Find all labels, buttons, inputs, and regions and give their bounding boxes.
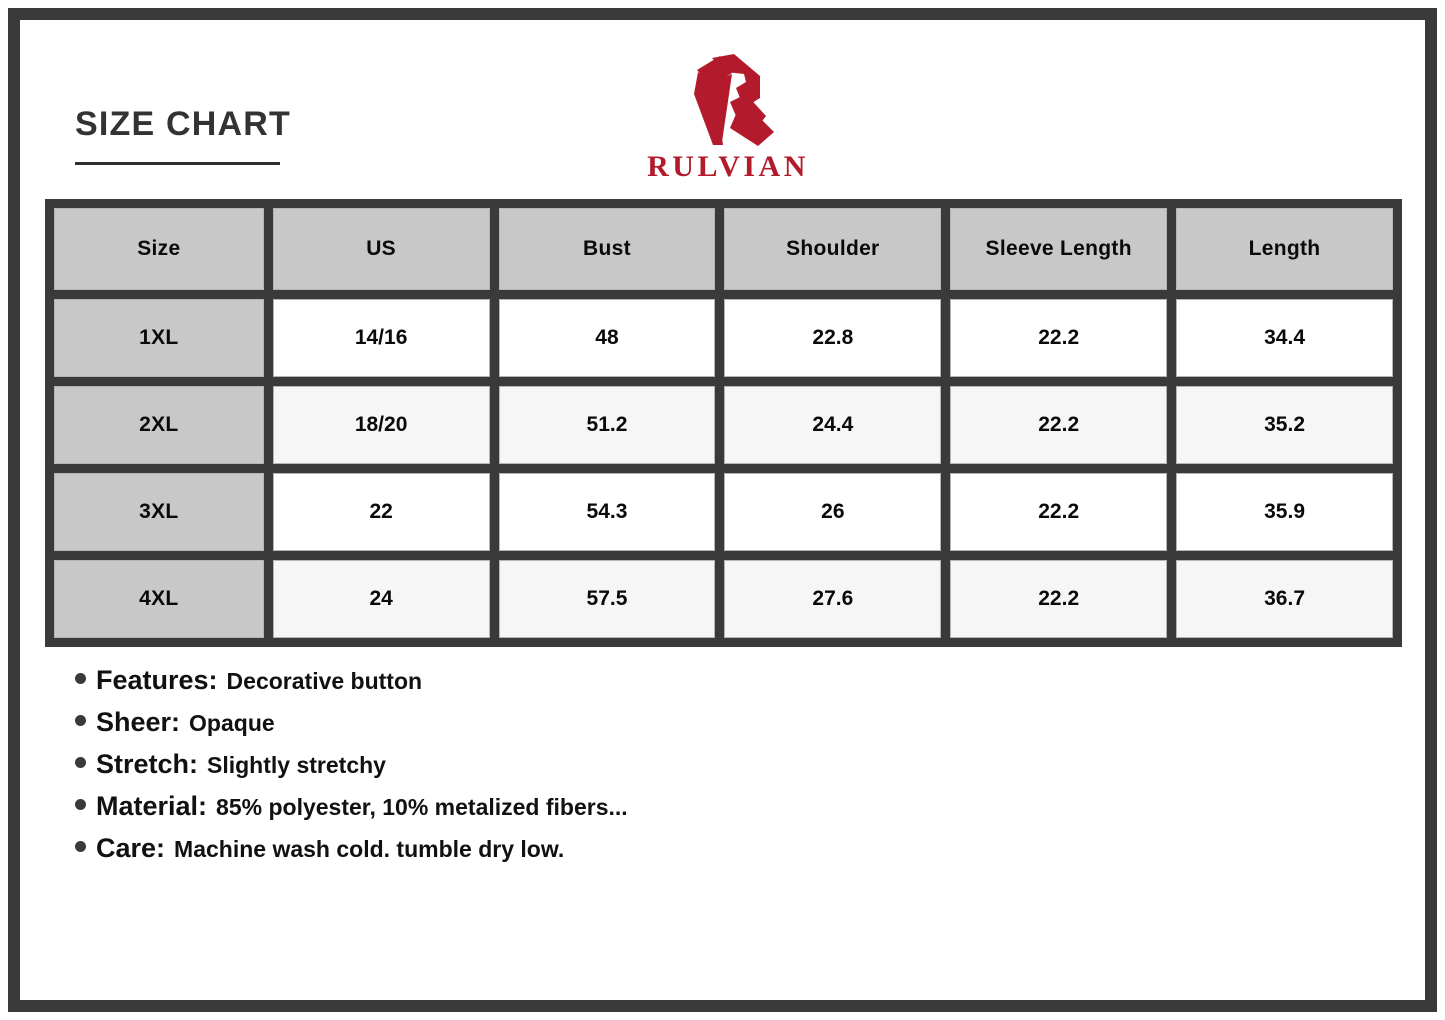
cell-size: 3XL [54, 473, 264, 551]
list-item: Sheer: Opaque [75, 707, 1375, 749]
cell-size: 4XL [54, 560, 264, 638]
cell-shoulder: 26 [724, 473, 941, 551]
spec-value: Machine wash cold. tumble dry low. [174, 836, 564, 863]
cell-bust: 57.5 [499, 560, 716, 638]
brand-logo: RULVIAN [628, 42, 828, 182]
cell-sleeve-length: 22.2 [950, 299, 1167, 377]
cell-size: 1XL [54, 299, 264, 377]
cell-us: 24 [273, 560, 490, 638]
list-item: Features: Decorative button [75, 665, 1375, 707]
column-header-us: US [273, 208, 490, 290]
cell-us: 22 [273, 473, 490, 551]
bullet-dot-icon [75, 757, 86, 768]
spec-value: Slightly stretchy [207, 752, 386, 779]
bullet-dot-icon [75, 799, 86, 810]
title-underline-divider [75, 162, 280, 165]
cell-us: 18/20 [273, 386, 490, 464]
table-row: 4XL 24 57.5 27.6 22.2 36.7 [54, 560, 1393, 638]
column-header-shoulder: Shoulder [724, 208, 941, 290]
table-header-row: Size US Bust Shoulder Sleeve Length Leng… [54, 208, 1393, 290]
cell-bust: 48 [499, 299, 716, 377]
table-row: 3XL 22 54.3 26 22.2 35.9 [54, 473, 1393, 551]
cell-length: 35.2 [1176, 386, 1393, 464]
list-item: Material: 85% polyester, 10% metalized f… [75, 791, 1375, 833]
spec-label: Sheer: [96, 707, 180, 738]
product-spec-list: Features: Decorative button Sheer: Opaqu… [75, 665, 1375, 875]
list-item: Stretch: Slightly stretchy [75, 749, 1375, 791]
cell-bust: 51.2 [499, 386, 716, 464]
angular-r-monogram-icon [674, 42, 782, 150]
cell-length: 35.9 [1176, 473, 1393, 551]
bullet-dot-icon [75, 673, 86, 684]
bullet-dot-icon [75, 841, 86, 852]
list-item: Care: Machine wash cold. tumble dry low. [75, 833, 1375, 875]
spec-label: Material: [96, 791, 207, 822]
page-title: SIZE CHART [75, 107, 291, 141]
column-header-size: Size [54, 208, 264, 290]
table-row: 2XL 18/20 51.2 24.4 22.2 35.2 [54, 386, 1393, 464]
spec-label: Stretch: [96, 749, 198, 780]
size-chart-card: SIZE CHART RULVIAN Size US Bust [8, 8, 1437, 1012]
table-row: 1XL 14/16 48 22.8 22.2 34.4 [54, 299, 1393, 377]
brand-name: RULVIAN [628, 152, 828, 182]
cell-us: 14/16 [273, 299, 490, 377]
column-header-bust: Bust [499, 208, 716, 290]
cell-sleeve-length: 22.2 [950, 386, 1167, 464]
card-header: SIZE CHART RULVIAN [20, 20, 1425, 180]
spec-value: Decorative button [227, 668, 423, 695]
cell-sleeve-length: 22.2 [950, 560, 1167, 638]
cell-bust: 54.3 [499, 473, 716, 551]
spec-value: Opaque [189, 710, 275, 737]
cell-shoulder: 24.4 [724, 386, 941, 464]
spec-label: Features: [96, 665, 218, 696]
cell-length: 34.4 [1176, 299, 1393, 377]
cell-shoulder: 27.6 [724, 560, 941, 638]
column-header-sleeve-length: Sleeve Length [950, 208, 1167, 290]
cell-length: 36.7 [1176, 560, 1393, 638]
bullet-dot-icon [75, 715, 86, 726]
spec-value: 85% polyester, 10% metalized fibers... [216, 794, 628, 821]
size-chart-table: Size US Bust Shoulder Sleeve Length Leng… [45, 199, 1402, 647]
cell-shoulder: 22.8 [724, 299, 941, 377]
cell-size: 2XL [54, 386, 264, 464]
cell-sleeve-length: 22.2 [950, 473, 1167, 551]
spec-label: Care: [96, 833, 165, 864]
column-header-length: Length [1176, 208, 1393, 290]
